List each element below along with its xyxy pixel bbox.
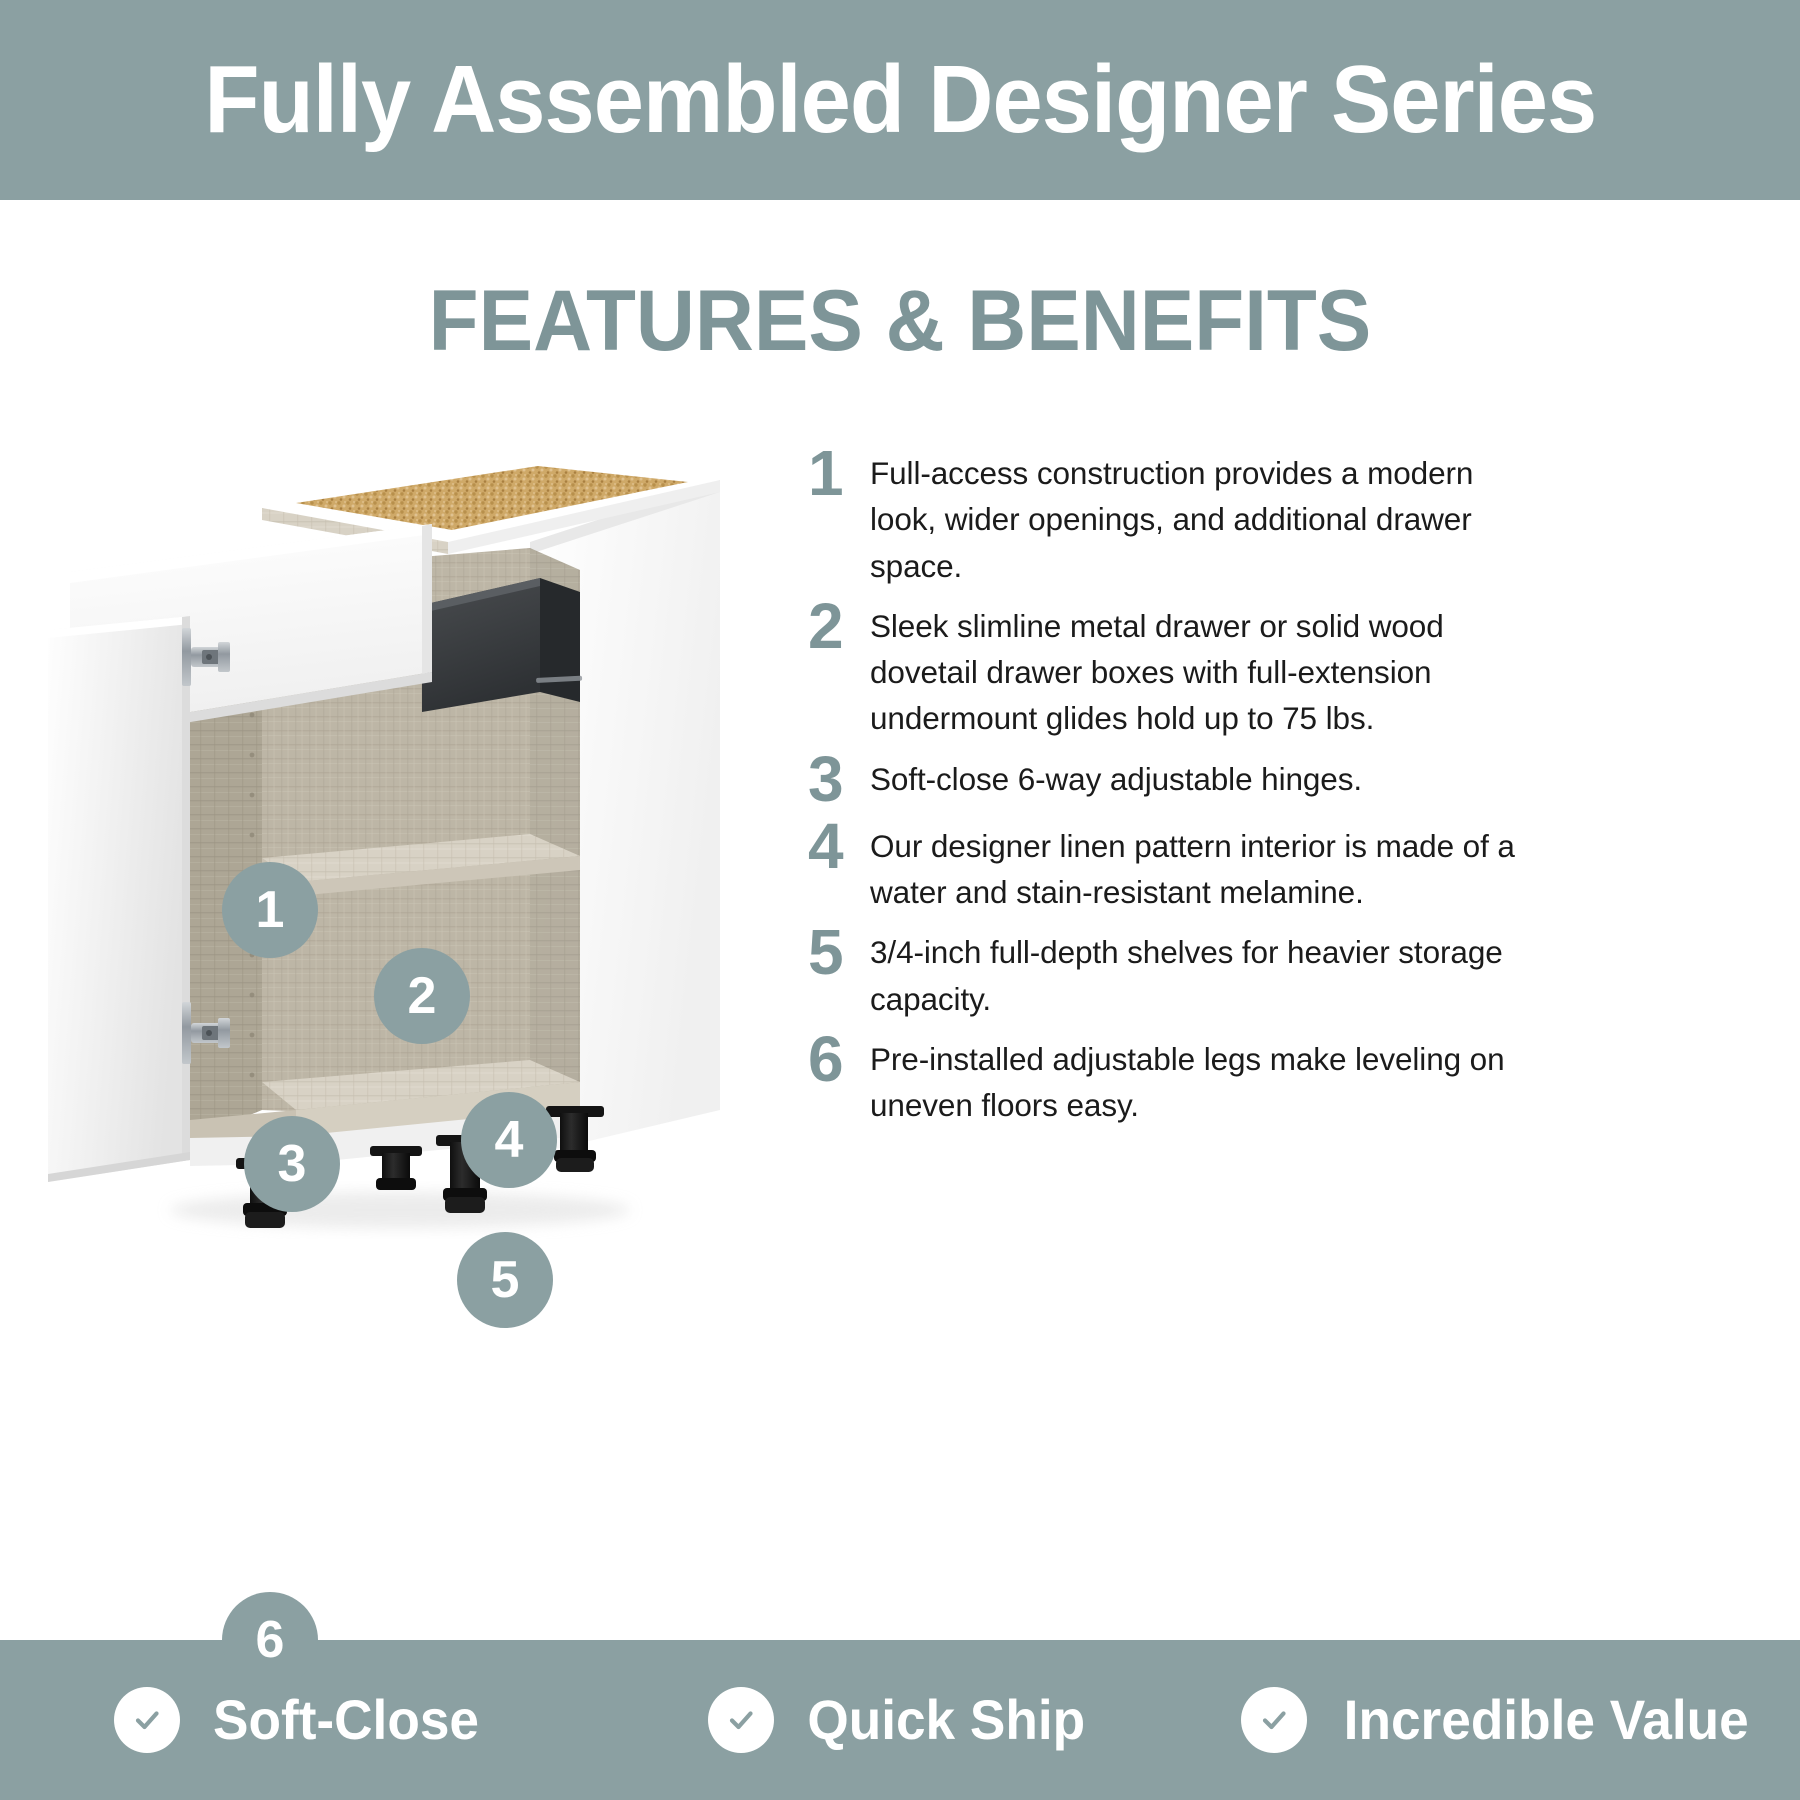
footer-item-incredible-value: Incredible Value <box>1200 1687 1800 1753</box>
header-bar: Fully Assembled Designer Series <box>0 0 1800 200</box>
feature-item: 2 Sleek slimline metal drawer or solid w… <box>808 603 1528 742</box>
callout-6-legs: 6 <box>222 1592 318 1688</box>
feature-text: Sleek slimline metal drawer or solid woo… <box>870 603 1528 742</box>
feature-text: Pre-installed adjustable legs make level… <box>870 1036 1528 1129</box>
footer-item-quick-ship: Quick Ship <box>600 1687 1200 1753</box>
feature-number: 3 <box>808 750 870 809</box>
header-title: Fully Assembled Designer Series <box>204 52 1596 148</box>
footer-item-soft-close: Soft-Close <box>0 1687 600 1753</box>
main-content: 1 2 3 4 5 6 1 Full-access construction p… <box>0 400 1800 1640</box>
feature-item: 4 Our designer linen pattern interior is… <box>808 823 1528 916</box>
footer-label: Quick Ship <box>807 1692 1085 1748</box>
feature-number: 1 <box>808 444 870 503</box>
feature-item: 5 3/4-inch full-depth shelves for heavie… <box>808 929 1528 1022</box>
callout-4-linen-interior: 4 <box>461 1092 557 1188</box>
callout-3-hinges: 3 <box>244 1116 340 1212</box>
feature-number: 4 <box>808 817 870 876</box>
product-image: 1 2 3 4 5 6 <box>40 420 810 1320</box>
features-list: 1 Full-access construction provides a mo… <box>808 450 1528 1142</box>
feature-item: 1 Full-access construction provides a mo… <box>808 450 1528 589</box>
check-circle-icon <box>1241 1687 1307 1753</box>
footer-label: Soft-Close <box>213 1692 479 1748</box>
section-title: FEATURES & BENEFITS <box>45 278 1755 364</box>
feature-number: 2 <box>808 597 870 656</box>
check-circle-icon <box>114 1687 180 1753</box>
feature-text: Full-access construction provides a mode… <box>870 450 1528 589</box>
footer-label: Incredible Value <box>1343 1692 1748 1748</box>
feature-item: 3 Soft-close 6-way adjustable hinges. <box>808 756 1528 809</box>
callout-2-drawer: 2 <box>374 948 470 1044</box>
feature-text: 3/4-inch full-depth shelves for heavier … <box>870 929 1528 1022</box>
feature-text: Soft-close 6-way adjustable hinges. <box>870 756 1528 802</box>
callout-5-shelf: 5 <box>457 1232 553 1328</box>
check-circle-icon <box>708 1687 774 1753</box>
feature-number: 5 <box>808 923 870 982</box>
feature-number: 6 <box>808 1030 870 1089</box>
callout-1-full-access: 1 <box>222 862 318 958</box>
feature-item: 6 Pre-installed adjustable legs make lev… <box>808 1036 1528 1129</box>
infographic-page: Fully Assembled Designer Series FEATURES… <box>0 0 1800 1800</box>
feature-text: Our designer linen pattern interior is m… <box>870 823 1528 916</box>
